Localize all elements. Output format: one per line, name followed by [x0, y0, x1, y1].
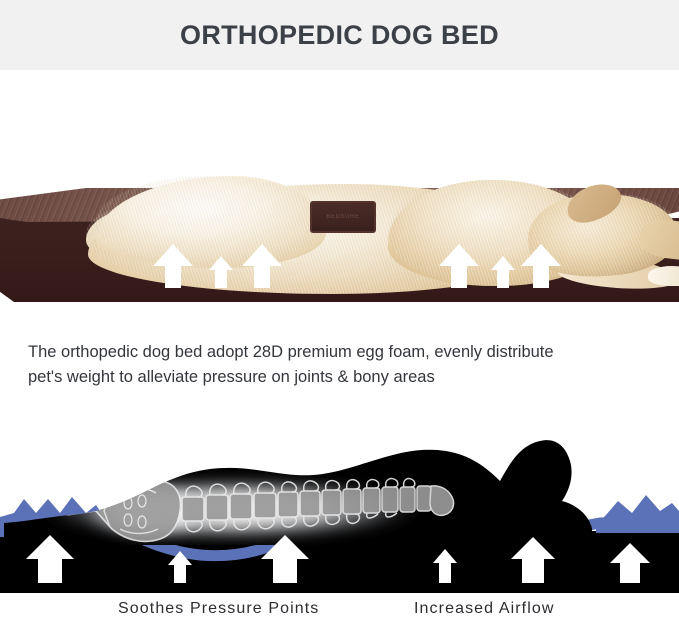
header-banner: ORTHOPEDIC DOG BED [0, 0, 679, 70]
egg-crate-foam-right [596, 495, 679, 533]
product-photo-panel: BEDSURE [0, 70, 679, 302]
bed-support-arrows [0, 70, 679, 302]
caption-increased-airflow: Increased Airflow [414, 600, 555, 618]
arrow-up-icon [521, 244, 561, 288]
description-text: The orthopedic dog bed adopt 28D premium… [28, 340, 668, 390]
product-infographic: ORTHOPEDIC DOG BED BEDSURE [0, 0, 679, 628]
description-line-1: The orthopedic dog bed adopt 28D premium… [28, 340, 668, 365]
arrow-up-icon [491, 256, 515, 288]
arrow-up-icon [209, 256, 233, 288]
arrow-up-icon [242, 244, 282, 288]
caption-row: Soothes Pressure Points Increased Airflo… [0, 600, 679, 628]
cross-section-diagram [0, 425, 679, 593]
page-title: ORTHOPEDIC DOG BED [180, 20, 499, 51]
cross-section-panel [0, 425, 679, 593]
caption-soothes-pressure-points: Soothes Pressure Points [118, 600, 319, 618]
arrow-up-icon [439, 244, 479, 288]
arrow-up-icon [153, 244, 193, 288]
description-line-2: pet's weight to alleviate pressure on jo… [28, 365, 668, 390]
